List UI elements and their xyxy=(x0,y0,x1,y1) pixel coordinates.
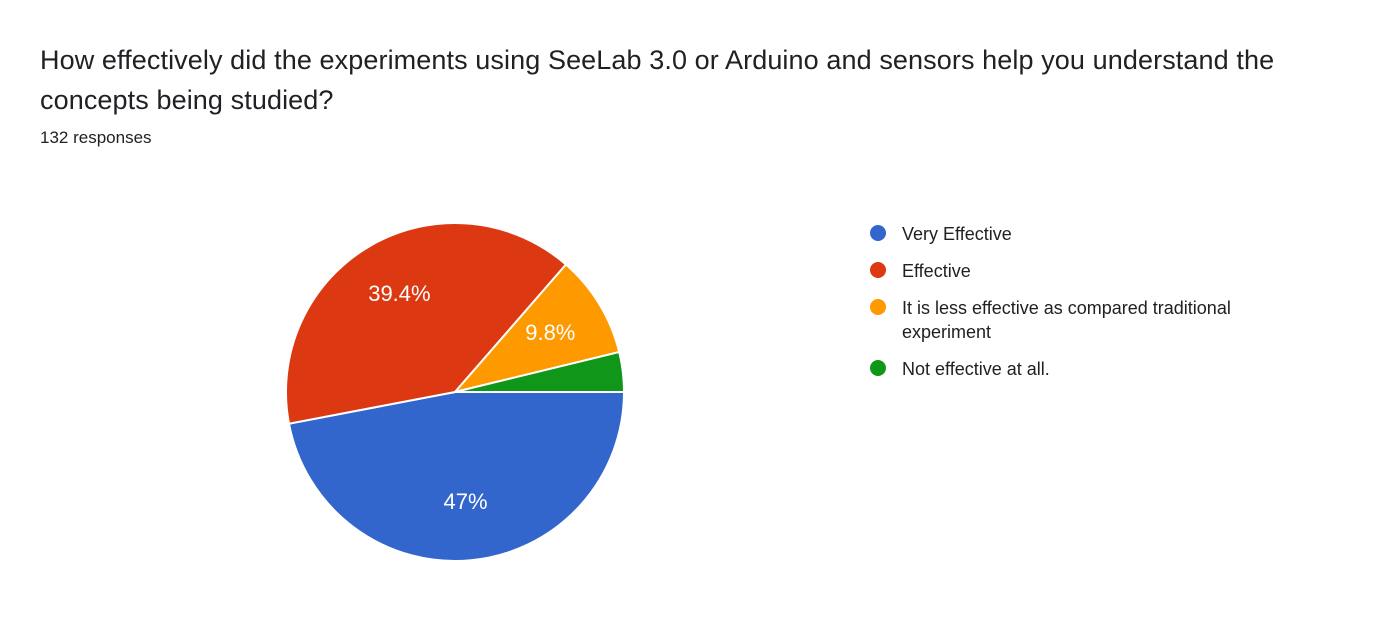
legend-item-very-effective[interactable]: Very Effective xyxy=(870,222,1290,246)
survey-result-page: How effectively did the experiments usin… xyxy=(0,0,1380,626)
legend-item-less-effective[interactable]: It is less effective as compared traditi… xyxy=(870,296,1290,344)
legend-label-less-effective: It is less effective as compared traditi… xyxy=(902,296,1232,344)
legend-item-not-effective[interactable]: Not effective at all. xyxy=(870,357,1290,381)
legend-swatch-less-effective xyxy=(870,299,886,315)
pie-slice-label: 39.4% xyxy=(368,281,430,306)
legend-label-effective: Effective xyxy=(902,259,971,283)
legend-label-not-effective: Not effective at all. xyxy=(902,357,1050,381)
pie-slice-label: 9.8% xyxy=(525,320,575,345)
response-count-label: 132 responses xyxy=(40,126,1360,150)
pie-chart: 47%39.4%9.8% xyxy=(0,180,860,626)
chart-legend: Very Effective Effective It is less effe… xyxy=(870,222,1290,394)
legend-label-very-effective: Very Effective xyxy=(902,222,1012,246)
legend-swatch-very-effective xyxy=(870,225,886,241)
pie-chart-area: 47%39.4%9.8% Very Effective Effective It… xyxy=(0,180,1380,626)
pie-slice[interactable] xyxy=(289,392,624,561)
legend-swatch-not-effective xyxy=(870,360,886,376)
legend-item-effective[interactable]: Effective xyxy=(870,259,1290,283)
chart-header: How effectively did the experiments usin… xyxy=(40,40,1360,150)
page-title: How effectively did the experiments usin… xyxy=(40,40,1350,120)
legend-swatch-effective xyxy=(870,262,886,278)
pie-slice-label: 47% xyxy=(443,489,487,514)
